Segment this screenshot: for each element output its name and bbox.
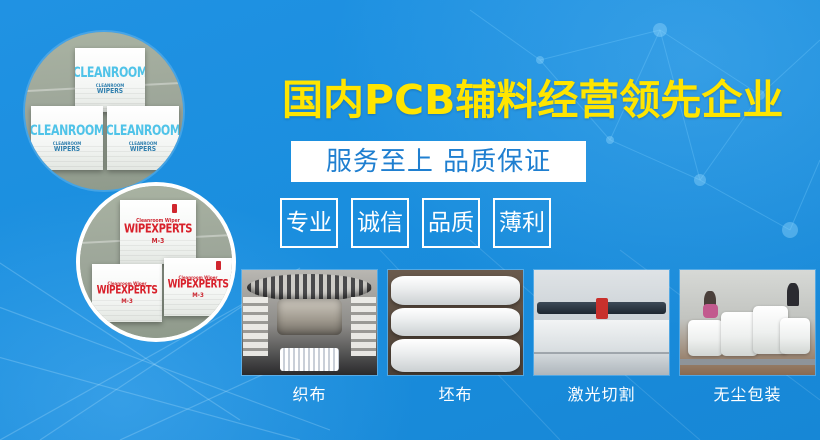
wipexperts-photo-art: Cleanroom Wiper WIPEXPERTS M-3 Cleanroom…	[80, 186, 232, 338]
process-thumbnail-laser-cutting: 激光切割	[534, 270, 669, 405]
keyword-tag-label: 薄利	[499, 210, 545, 236]
pack-stamp	[216, 261, 221, 270]
pack-pleats	[31, 146, 103, 170]
packaging-room-photo	[680, 270, 815, 375]
product-photo-cleanroom-wipes: CLEANROOM CLEANROOM WIPERS CLEANROOM CLE…	[25, 32, 183, 190]
promo-banner: CLEANROOM CLEANROOM WIPERS CLEANROOM CLE…	[0, 0, 820, 440]
pack-pleats	[164, 294, 232, 316]
thumbnail-image-frame	[680, 270, 815, 375]
product-photo-wipexperts: Cleanroom Wiper WIPEXPERTS M-3 Cleanroom…	[76, 182, 236, 342]
process-thumbnail-weaving: 织布	[242, 270, 377, 405]
fabric-rolls-photo	[388, 270, 523, 375]
wipe-pack: CLEANROOM CLEANROOM WIPERS	[31, 106, 103, 170]
keyword-tag-chengxin: 诚信	[351, 198, 409, 248]
wipe-pack: Cleanroom Wiper WIPEXPERTS M-3	[92, 264, 162, 322]
pack-brand: CLEANROOM	[107, 122, 179, 138]
pack-brand: WIPEXPERTS	[168, 279, 229, 292]
wipe-pack: CLEANROOM CLEANROOM WIPERS	[107, 106, 179, 170]
process-thumbnail-strip: 织布 坯布 激光切割	[242, 270, 815, 405]
keyword-tag-list: 专业 诚信 品质 薄利	[280, 198, 551, 248]
process-thumbnail-greige-fabric: 坯布	[388, 270, 523, 405]
thumbnail-image-frame	[242, 270, 377, 375]
banner-headline: 国内PCB辅料经营领先企业	[282, 74, 782, 126]
pack-brand: CLEANROOM	[75, 64, 145, 80]
keyword-tag-pinzhi: 品质	[422, 198, 480, 248]
cleanroom-photo-art: CLEANROOM CLEANROOM WIPERS CLEANROOM CLE…	[25, 32, 183, 190]
thumbnail-caption: 激光切割	[534, 385, 669, 405]
thumbnail-caption: 无尘包装	[680, 385, 815, 405]
knitting-machine-photo	[242, 270, 377, 375]
wipe-pack: Cleanroom Wiper WIPEXPERTS M-3	[120, 200, 196, 264]
process-thumbnail-cleanroom-packaging: 无尘包装	[680, 270, 815, 405]
thumbnail-image-frame	[388, 270, 523, 375]
keyword-tag-label: 专业	[286, 210, 332, 236]
subtitle-bar: 服务至上 品质保证	[291, 141, 586, 182]
pack-pleats	[92, 300, 162, 322]
keyword-tag-zhuanye: 专业	[280, 198, 338, 248]
pack-pleats	[107, 146, 179, 170]
keyword-tag-baoli: 薄利	[493, 198, 551, 248]
subtitle-text: 服务至上 品质保证	[326, 147, 551, 177]
pack-brand: CLEANROOM	[31, 122, 103, 138]
thumbnail-image-frame	[534, 270, 669, 375]
pack-stamp	[172, 204, 177, 213]
keyword-tag-label: 诚信	[357, 210, 403, 236]
thumbnail-caption: 坯布	[388, 385, 523, 405]
thumbnail-caption: 织布	[242, 385, 377, 405]
wipe-pack: Cleanroom Wiper WIPEXPERTS M-3	[164, 258, 232, 316]
keyword-tag-label: 品质	[428, 210, 474, 236]
wipe-pack: CLEANROOM CLEANROOM WIPERS	[75, 48, 145, 112]
pack-brand: WIPEXPERTS	[97, 285, 158, 298]
pack-brand: WIPEXPERTS	[124, 223, 192, 237]
laser-cutter-photo	[534, 270, 669, 375]
